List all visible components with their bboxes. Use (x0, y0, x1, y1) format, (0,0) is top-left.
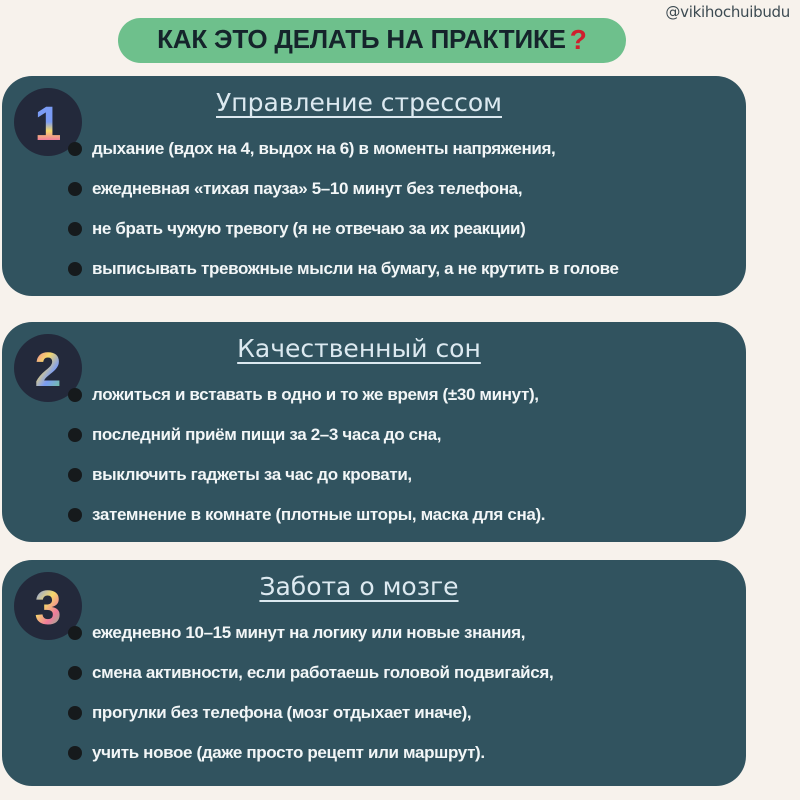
bullet-list-3: ежедневно 10–15 минут на логику или новы… (68, 622, 728, 782)
bullet-dot-icon (68, 706, 82, 720)
list-item: последний приём пищи за 2–3 часа до сна, (68, 424, 728, 464)
section-heading-2: Качественный сон (2, 334, 746, 363)
bullet-dot-icon (68, 746, 82, 760)
bullet-dot-icon (68, 468, 82, 482)
list-item: ложиться и вставать в одно и то же время… (68, 384, 728, 424)
list-item: не брать чужую тревогу (я не отвечаю за … (68, 218, 728, 258)
list-item: затемнение в комнате (плотные шторы, мас… (68, 504, 728, 544)
page-title: КАК ЭТО ДЕЛАТЬ НА ПРАКТИКЕ (157, 24, 566, 55)
section-card-3: 3 Забота о мозге ежедневно 10–15 минут н… (2, 560, 746, 786)
bullet-dot-icon (68, 262, 82, 276)
bullet-dot-icon (68, 626, 82, 640)
question-mark-icon: ? (570, 24, 587, 56)
section-heading-3: Забота о мозге (2, 572, 746, 601)
bullet-text: выписывать тревожные мысли на бумагу, а … (92, 258, 619, 279)
bullet-dot-icon (68, 182, 82, 196)
list-item: выключить гаджеты за час до кровати, (68, 464, 728, 504)
bullet-text: ежедневная «тихая пауза» 5–10 минут без … (92, 178, 522, 199)
watermark-handle: @vikihochuibudu (665, 3, 790, 21)
bullet-text: ложиться и вставать в одно и то же время… (92, 384, 539, 405)
list-item: выписывать тревожные мысли на бумагу, а … (68, 258, 728, 298)
bullet-dot-icon (68, 222, 82, 236)
bullet-text: прогулки без телефона (мозг отдыхает ина… (92, 702, 471, 723)
list-item: прогулки без телефона (мозг отдыхает ина… (68, 702, 728, 742)
bullet-text: дыхание (вдох на 4, выдох на 6) в момент… (92, 138, 555, 159)
bullet-list-2: ложиться и вставать в одно и то же время… (68, 384, 728, 544)
bullet-dot-icon (68, 428, 82, 442)
bullet-text: выключить гаджеты за час до кровати, (92, 464, 412, 485)
section-card-1: 1 Управление стрессом дыхание (вдох на 4… (2, 76, 746, 296)
header: КАК ЭТО ДЕЛАТЬ НА ПРАКТИКЕ ? @vikihochui… (0, 0, 800, 72)
title-pill: КАК ЭТО ДЕЛАТЬ НА ПРАКТИКЕ ? (118, 18, 626, 63)
list-item: ежедневно 10–15 минут на логику или новы… (68, 622, 728, 662)
bullet-dot-icon (68, 388, 82, 402)
bullet-dot-icon (68, 666, 82, 680)
section-card-2: 2 Качественный сон ложиться и вставать в… (2, 322, 746, 542)
bullet-text: ежедневно 10–15 минут на логику или новы… (92, 622, 525, 643)
list-item: ежедневная «тихая пауза» 5–10 минут без … (68, 178, 728, 218)
list-item: учить новое (даже просто рецепт или марш… (68, 742, 728, 782)
section-heading-1: Управление стрессом (2, 88, 746, 117)
bullet-dot-icon (68, 508, 82, 522)
bullet-text: последний приём пищи за 2–3 часа до сна, (92, 424, 441, 445)
bullet-text: смена активности, если работаешь головой… (92, 662, 553, 683)
bullet-list-1: дыхание (вдох на 4, выдох на 6) в момент… (68, 138, 728, 298)
list-item: смена активности, если работаешь головой… (68, 662, 728, 702)
bullet-text: не брать чужую тревогу (я не отвечаю за … (92, 218, 525, 239)
bullet-text: затемнение в комнате (плотные шторы, мас… (92, 504, 545, 525)
list-item: дыхание (вдох на 4, выдох на 6) в момент… (68, 138, 728, 178)
bullet-text: учить новое (даже просто рецепт или марш… (92, 742, 485, 763)
bullet-dot-icon (68, 142, 82, 156)
